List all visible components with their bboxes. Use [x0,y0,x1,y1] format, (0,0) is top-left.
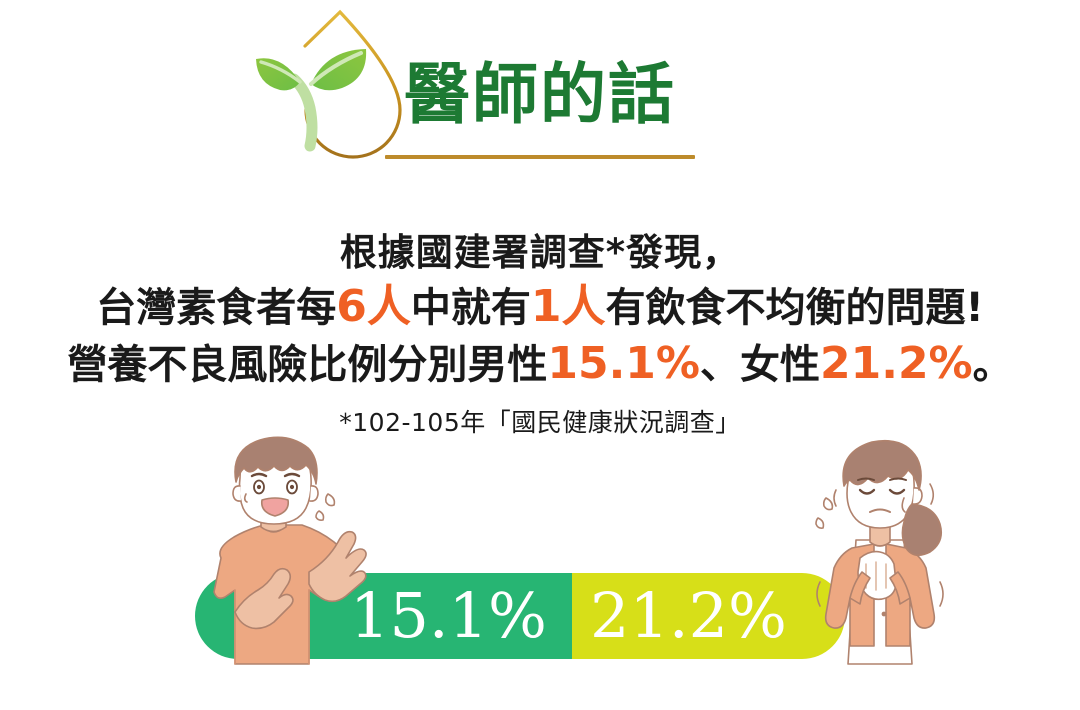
worried-woman-illustration [800,432,975,672]
page-title: 醫師的話 [404,57,676,133]
copy-line-3-highlight-male-pct: 15.1% [547,338,700,389]
copy-line-3-part3: 。 [973,342,1013,388]
copy-line-2-part3: 有飲食不均衡的問題! [606,285,984,331]
header-section: 醫師的話 [0,0,1080,180]
copy-line-2-part1: 台灣素食者每 [96,285,336,331]
copy-line-3-part1: 營養不良風險比例分別男性 [67,342,547,388]
copy-line-2: 台灣素食者每6人中就有1人有飲食不均衡的問題! [0,280,1080,335]
copy-line-2-highlight-six: 6人 [336,281,411,332]
copy-line-3-highlight-female-pct: 21.2% [820,338,973,389]
copy-line-2-highlight-one: 1人 [531,281,606,332]
worried-man-illustration [178,432,388,672]
copy-line-2-part2: 中就有 [411,285,531,331]
sprout-droplet-icon [248,4,413,169]
copy-line-1: 根據國建署調查*發現， [0,228,1080,278]
title-underline-rule [385,155,695,159]
copy-line-3-part2: 、女性 [700,342,820,388]
copy-line-1-text: 根據國建署調查*發現， [340,231,740,274]
body-copy-block: 根據國建署調查*發現， 台灣素食者每6人中就有1人有飲食不均衡的問題! 營養不良… [0,228,1080,440]
copy-line-3: 營養不良風險比例分別男性15.1%、女性21.2%。 [0,337,1080,392]
infographic-canvas: 醫師的話 根據國建署調查*發現， 台灣素食者每6人中就有1人有飲食不均衡的問題!… [0,0,1080,710]
bar-value-female: 21.2% [590,573,787,659]
